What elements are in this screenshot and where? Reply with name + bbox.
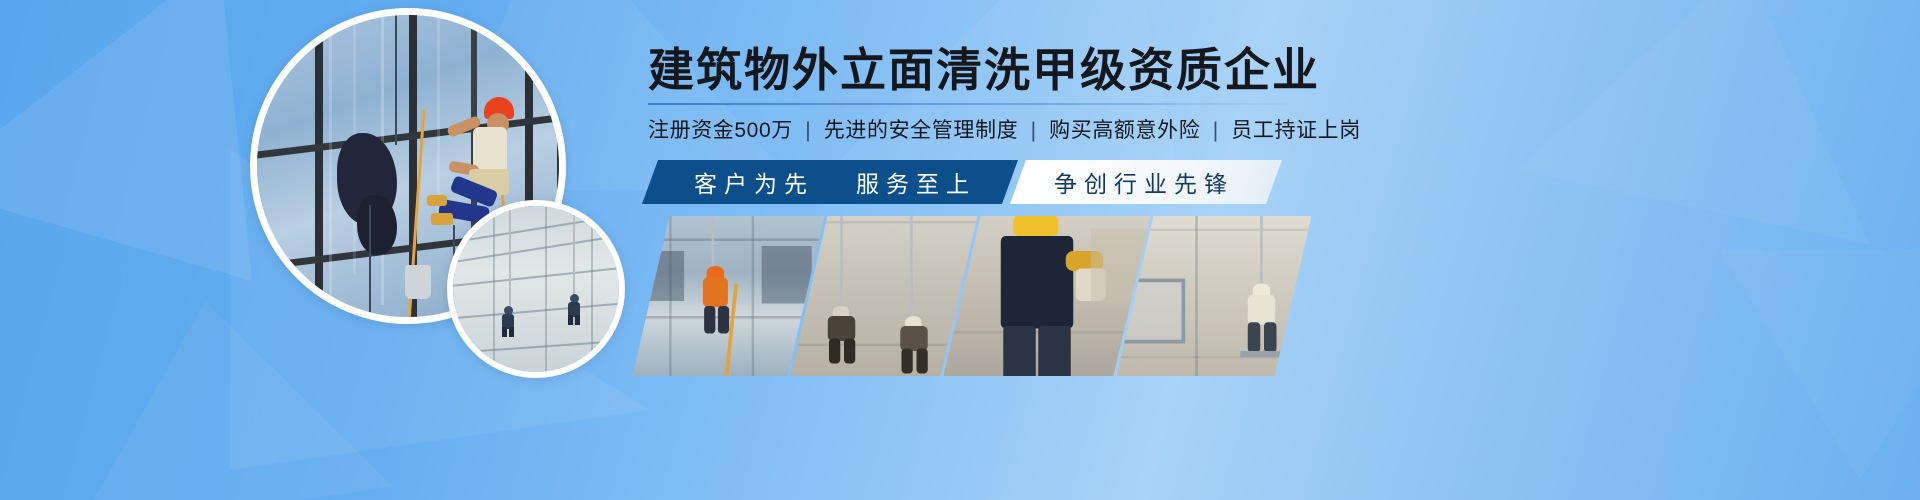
title-divider: [648, 103, 1293, 105]
ribbon-light-segment: 争创行业先锋: [1010, 160, 1282, 204]
subtitle-separator: |: [1207, 119, 1225, 142]
photo-strip: [651, 216, 1295, 376]
subtitle-item-2: 先进的安全管理制度: [824, 119, 1018, 142]
subtitle-separator: |: [1025, 119, 1043, 142]
banner-title: 建筑物外立面清洗甲级资质企业: [648, 44, 1888, 97]
photo-panel-worker-balcony: [1117, 216, 1312, 376]
worker-figure: [501, 306, 515, 336]
decorative-triangle: [1720, 250, 1920, 480]
subtitle-item-1: 注册资金500万: [648, 119, 793, 142]
banner-subtitle: 注册资金500万 | 先进的安全管理制度 | 购买高额意外险 | 员工持证上岗: [648, 114, 1888, 144]
ribbon-dark-segment: 客户为先 服务至上: [642, 160, 1018, 204]
slogan-industry-pioneer: 争创行业先锋: [1054, 165, 1234, 199]
promotional-banner: 建筑物外立面清洗甲级资质企业 注册资金500万 | 先进的安全管理制度 | 购买…: [0, 0, 1920, 500]
worker-figure: [567, 294, 581, 324]
slogan-ribbon: 客户为先 服务至上 争创行业先锋: [650, 160, 1274, 204]
slogan-customer-first: 客户为先: [694, 165, 814, 199]
building-wall-scene: [453, 206, 619, 372]
subtitle-separator: |: [799, 119, 817, 142]
photo-panel-worker-plastering: [944, 216, 1151, 376]
subtitle-item-4: 员工持证上岗: [1231, 119, 1361, 142]
circle-photo-workers-wall: [447, 200, 625, 378]
subtitle-item-3: 购买高额意外险: [1049, 119, 1200, 142]
banner-content: 建筑物外立面清洗甲级资质企业 注册资金500万 | 先进的安全管理制度 | 购买…: [648, 44, 1888, 144]
slogan-service-supreme: 服务至上: [856, 165, 976, 199]
